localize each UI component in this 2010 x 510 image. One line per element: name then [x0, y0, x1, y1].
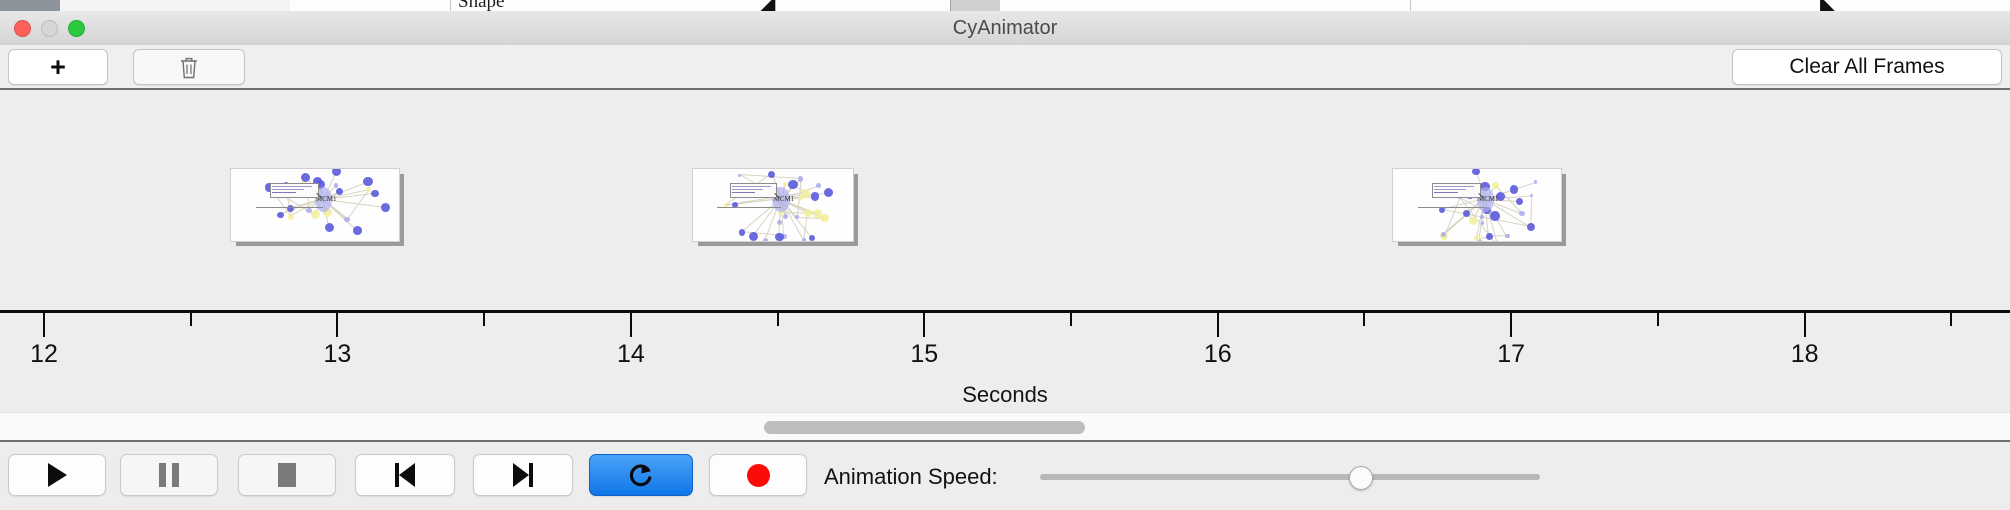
graph-node [788, 180, 798, 190]
ruler-tick-label: 16 [1204, 340, 1232, 369]
graph-node [311, 210, 320, 219]
graph-node [798, 176, 803, 181]
graph-node [371, 190, 378, 197]
graph-node [738, 174, 741, 177]
ruler-minor-tick [1657, 313, 1659, 326]
graph-node [775, 233, 784, 242]
stop-button[interactable] [238, 454, 336, 496]
graph-annotation-text-line [272, 192, 296, 193]
record-icon [747, 464, 770, 487]
graph-node [763, 238, 769, 242]
timeline-ruler[interactable]: 12131415161718 Seconds [0, 310, 2010, 412]
background-tab-selected [950, 0, 1002, 11]
graph-node [363, 177, 372, 186]
axis-title: Seconds [0, 382, 2010, 408]
graph-node [816, 183, 821, 188]
ruler-major-tick [1510, 313, 1512, 337]
loop-button[interactable] [589, 454, 693, 496]
graph-node [795, 215, 800, 220]
graph-annotation-text-line [1434, 189, 1466, 190]
graph-node [813, 209, 821, 217]
graph-node [306, 208, 311, 213]
graph-node [381, 203, 390, 212]
graph-node [824, 188, 833, 197]
graph-node [1510, 185, 1518, 193]
graph-annotation-text-line [732, 186, 770, 187]
play-button[interactable] [8, 454, 106, 496]
animation-speed-label: Animation Speed: [824, 464, 998, 490]
ruler-major-tick [1804, 313, 1806, 337]
graph-node [325, 223, 334, 232]
keyframe-thumbnail-3[interactable]: MCM1 [1392, 168, 1560, 240]
window-title: CyAnimator [0, 11, 2010, 45]
plus-icon: + [50, 54, 66, 81]
previous-frame-button[interactable] [355, 454, 455, 496]
graph-annotation-text-line [272, 189, 304, 190]
graph-node [783, 182, 788, 187]
graph-annotation-text-line [272, 186, 312, 187]
skip-back-icon [395, 463, 415, 487]
animation-speed-slider-thumb[interactable] [1349, 466, 1373, 490]
ruler-minor-tick [777, 313, 779, 326]
graph-annotation-text-line [732, 192, 754, 193]
clear-all-frames-button[interactable]: Clear All Frames [1732, 49, 2002, 85]
background-column-3 [1200, 0, 1411, 11]
playback-control-bar: Animation Speed: [0, 440, 2010, 510]
timeline-panel[interactable]: MCM1 MCM1 MCM1 12131415161718 Seconds [0, 90, 2010, 412]
graph-annotation-text-line [1434, 192, 1458, 193]
network-graph-thumbnail: MCM1 [1392, 168, 1562, 242]
animation-speed-slider-track[interactable] [1040, 474, 1540, 480]
background-tab-light [60, 0, 291, 11]
stop-icon [278, 463, 296, 487]
title-bar: CyAnimator [0, 11, 2010, 46]
ruler-major-tick [630, 313, 632, 337]
background-column-1 [290, 0, 451, 11]
ruler-major-tick [43, 313, 45, 337]
ruler-tick-label: 13 [324, 340, 352, 369]
graph-node [1469, 217, 1477, 225]
pause-button[interactable] [120, 454, 218, 496]
next-frame-button[interactable] [473, 454, 573, 496]
ruler-minor-tick [190, 313, 192, 326]
graph-node [1472, 168, 1480, 175]
record-button[interactable] [709, 454, 807, 496]
ruler-tick-label: 15 [910, 340, 938, 369]
trash-icon [179, 56, 199, 79]
graph-node [1505, 234, 1510, 239]
graph-node [1527, 223, 1536, 232]
ruler-major-tick [336, 313, 338, 337]
graph-node [1534, 180, 1538, 184]
background-shape-label: Shape [458, 0, 504, 11]
graph-node [334, 183, 339, 188]
graph-caption-line [1418, 207, 1485, 208]
keyframe-thumbnail-1[interactable]: MCM1 [230, 168, 398, 240]
skip-forward-icon [513, 463, 533, 487]
graph-node [1530, 194, 1534, 198]
timeline-scrollbar-thumb[interactable] [764, 421, 1086, 434]
ruler-tick-label: 17 [1497, 340, 1525, 369]
graph-node [811, 192, 819, 200]
delete-frame-button[interactable] [133, 49, 245, 85]
network-graph-thumbnail: MCM1 [692, 168, 854, 242]
ruler-minor-tick [1070, 313, 1072, 326]
ruler-tick-label: 18 [1791, 340, 1819, 369]
graph-node [809, 235, 815, 241]
network-graph-thumbnail: MCM1 [230, 168, 400, 242]
graph-node [353, 226, 362, 235]
graph-node [1481, 221, 1485, 225]
ruler-minor-tick [1363, 313, 1365, 326]
graph-annotation-text-line [1434, 186, 1474, 187]
graph-node [288, 214, 294, 220]
clear-all-frames-label: Clear All Frames [1789, 55, 1944, 79]
graph-node [739, 229, 746, 236]
loop-icon [628, 462, 654, 488]
keyframe-strip: MCM1 MCM1 MCM1 [0, 90, 2010, 310]
ruler-axis-line [0, 310, 2010, 313]
graph-caption-line [717, 207, 781, 208]
ruler-minor-tick [1950, 313, 1952, 326]
ruler-major-tick [1217, 313, 1219, 337]
frame-toolbar: + Clear All Frames [0, 45, 2010, 90]
ruler-minor-tick [483, 313, 485, 326]
graph-node [749, 232, 758, 241]
ruler-tick-label: 14 [617, 340, 645, 369]
graph-node [344, 217, 350, 223]
graph-node [1486, 233, 1493, 240]
timeline-scrollbar-track[interactable] [0, 412, 2010, 441]
play-icon [48, 463, 67, 487]
graph-node [1516, 198, 1523, 205]
graph-caption-line [256, 207, 323, 208]
graph-node [1463, 210, 1470, 217]
graph-annotation-text-line [732, 189, 762, 190]
graph-node [801, 189, 810, 198]
background-app-strip: Shape ◢ ◣ [0, 0, 2010, 11]
graph-node [802, 238, 806, 242]
ruler-tick-label: 12 [30, 340, 58, 369]
keyframe-thumbnail-2[interactable]: MCM1 [692, 168, 852, 240]
cyanimator-window: Shape ◢ ◣ CyAnimator + Clear All Frames [0, 0, 2010, 510]
graph-node [1490, 211, 1500, 221]
graph-node [336, 188, 343, 195]
add-frame-button[interactable]: + [8, 49, 108, 85]
graph-edge [1444, 197, 1461, 237]
background-tab-dark [0, 0, 60, 11]
graph-node [277, 212, 284, 219]
graph-node [1519, 211, 1525, 217]
background-column-2 [1000, 0, 1201, 11]
ruler-major-tick [923, 313, 925, 337]
graph-node [804, 209, 812, 217]
pause-icon [159, 463, 179, 487]
graph-node [332, 168, 342, 176]
graph-node [1480, 215, 1484, 219]
graph-node [783, 214, 788, 219]
